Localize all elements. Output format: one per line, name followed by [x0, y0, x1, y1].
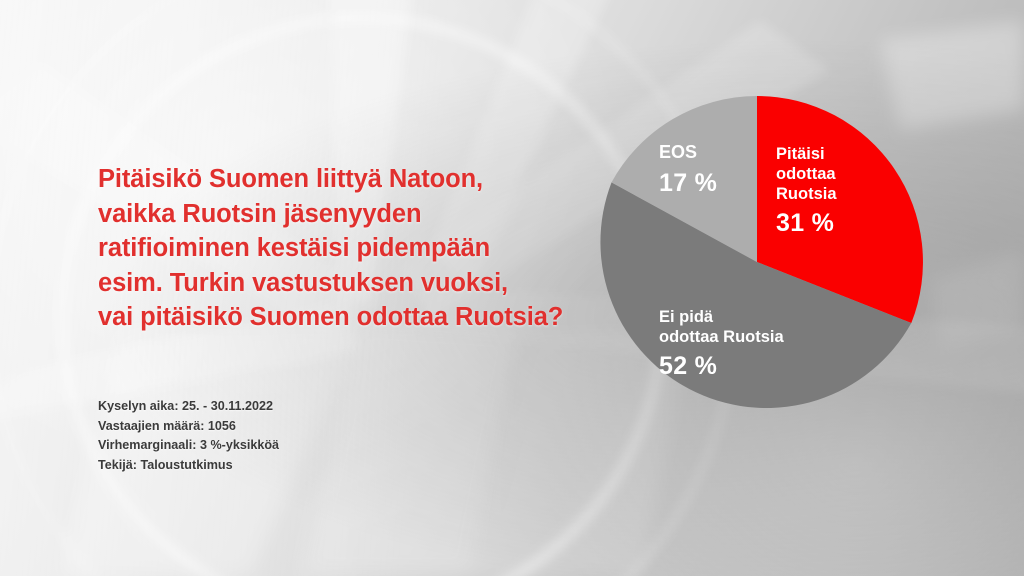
headline-line-4: esim. Turkin vastustuksen vuoksi, [98, 266, 598, 301]
pie-label-pitaisi: Pitäisi odottaa Ruotsia 31 % [776, 144, 837, 239]
page-title: Pitäisikö Suomen liittyä Natoon, vaikka … [98, 162, 598, 335]
infographic-canvas: Pitäisikö Suomen liittyä Natoon, vaikka … [0, 0, 1024, 576]
pie-label-eipida-name-1: Ei pidä [659, 307, 784, 327]
pie-label-eipida: Ei pidä odottaa Ruotsia 52 % [659, 307, 784, 382]
pie-label-pitaisi-name-1: Pitäisi [776, 144, 837, 164]
survey-metadata: Kyselyn aika: 25. - 30.11.2022 Vastaajie… [98, 397, 279, 476]
metadata-survey-period: Kyselyn aika: 25. - 30.11.2022 [98, 397, 279, 417]
pie-label-eos: EOS 17 % [659, 142, 717, 198]
headline-block: Pitäisikö Suomen liittyä Natoon, vaikka … [98, 162, 598, 335]
headline-line-1: Pitäisikö Suomen liittyä Natoon, [98, 162, 598, 197]
pie-label-pitaisi-value: 31 % [776, 208, 837, 239]
headline-line-2: vaikka Ruotsin jäsenyyden [98, 197, 598, 232]
metadata-margin-of-error: Virhemarginaali: 3 %-yksikköä [98, 436, 279, 456]
metadata-author: Tekijä: Taloustutkimus [98, 456, 279, 476]
pie-label-eos-name: EOS [659, 142, 717, 164]
pie-label-pitaisi-name-3: Ruotsia [776, 184, 837, 204]
pie-label-eos-value: 17 % [659, 168, 717, 199]
metadata-respondent-count: Vastaajien määrä: 1056 [98, 417, 279, 437]
headline-line-5: vai pitäisikö Suomen odottaa Ruotsia? [98, 300, 598, 335]
headline-line-3: ratifioiminen kestäisi pidempään [98, 231, 598, 266]
pie-chart: EOS 17 % Pitäisi odottaa Ruotsia 31 % Ei… [591, 96, 923, 428]
pie-label-eipida-name-2: odottaa Ruotsia [659, 327, 784, 347]
pie-label-pitaisi-name-2: odottaa [776, 164, 837, 184]
pie-label-eipida-value: 52 % [659, 351, 784, 382]
